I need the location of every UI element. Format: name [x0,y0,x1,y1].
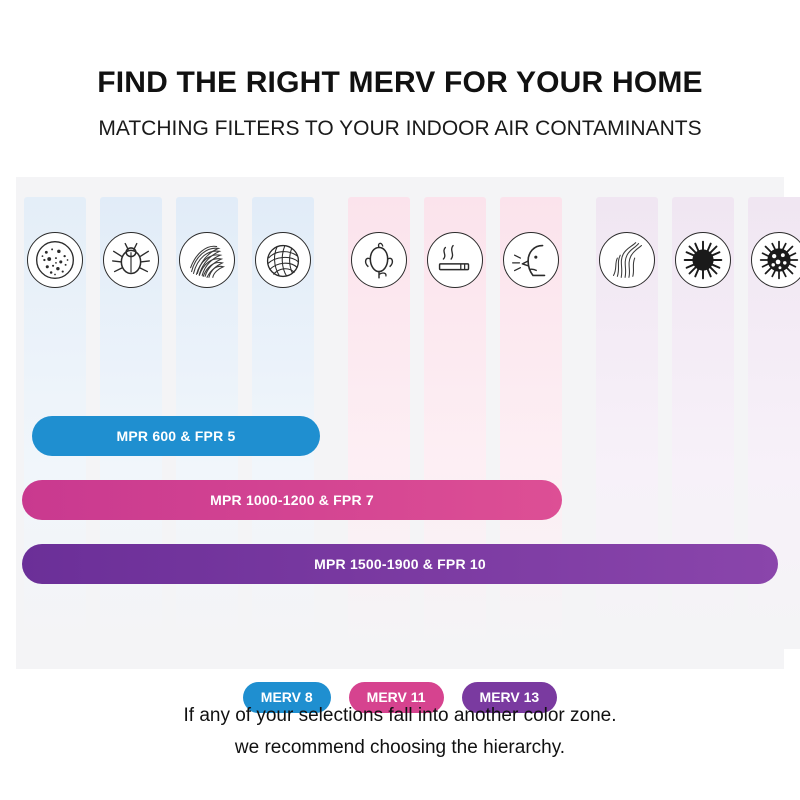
pollen-flower-icon [351,232,407,288]
sneezing-person-icon [503,232,559,288]
icon-wrap-sneezing-person [503,232,559,288]
icon-wrap-pet-hair [179,232,235,288]
page-subtitle: MATCHING FILTERS TO YOUR INDOOR AIR CONT… [0,117,800,141]
bar-label-merv-13: MPR 1500-1900 & FPR 10 [314,556,486,572]
icon-wrap-petri-dish [27,232,83,288]
bacteria-icon [751,232,800,288]
bar-merv-11[interactable]: MPR 1000-1200 & FPR 7 [22,480,562,520]
dust-mite-icon [103,232,159,288]
footnote-line-1: If any of your selections fall into anot… [0,700,800,732]
icon-wrap-virus [675,232,731,288]
lint-ball-icon [255,232,311,288]
bar-merv-8[interactable]: MPR 600 & FPR 5 [32,416,320,456]
smog-smoke-icon [599,232,655,288]
icon-wrap-pollen-flower [351,232,407,288]
merv-chart-panel: MPR 600 & FPR 5 MPR 1000-1200 & FPR 7 MP… [16,177,784,669]
bar-label-merv-8: MPR 600 & FPR 5 [117,428,236,444]
virus-icon [675,232,731,288]
petri-dish-particles-icon [27,232,83,288]
icon-wrap-lint-ball [255,232,311,288]
pet-hair-icon [179,232,235,288]
bar-label-merv-11: MPR 1000-1200 & FPR 7 [210,492,374,508]
icon-wrap-dust-mite [103,232,159,288]
footnote-line-2: we recommend choosing the hierarchy. [0,732,800,764]
bar-merv-13[interactable]: MPR 1500-1900 & FPR 10 [22,544,778,584]
footnote: If any of your selections fall into anot… [0,700,800,764]
cigarette-smoke-icon [427,232,483,288]
contaminant-columns: MPR 600 & FPR 5 MPR 1000-1200 & FPR 7 MP… [16,177,784,669]
icon-wrap-bacteria [751,232,800,288]
infographic-page: FIND THE RIGHT MERV FOR YOUR HOME MATCHI… [0,0,800,800]
page-title: FIND THE RIGHT MERV FOR YOUR HOME [0,66,800,100]
icon-wrap-smog-smoke [599,232,655,288]
icon-wrap-cigarette-smoke [427,232,483,288]
